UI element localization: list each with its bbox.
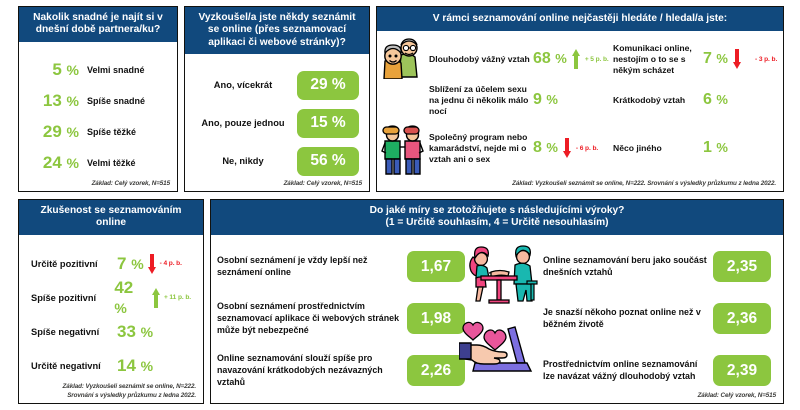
panel5-right-label-1: Je snazší někoho poznat online než v běž… (543, 307, 713, 331)
panel2-value-pill-2: 56 % (297, 147, 359, 176)
panel5-title-line1: Do jaké míry se ztotožňujete s následují… (217, 205, 777, 217)
panel3-value-right-1: 6 % (703, 91, 755, 109)
panel4-label-3: Určitě negativní (31, 361, 117, 371)
panel4-value-0: 7 % - 4 p. b. (117, 254, 182, 274)
panel1-value-3: 24 % (25, 153, 87, 173)
panel3-title: V rámci seznamování online nejčastěji hl… (377, 7, 783, 31)
couple-at-table-svg (467, 243, 541, 307)
panel5-left-label-0: Osobní seznámení je vždy lepší než sezná… (217, 255, 407, 279)
list-item: 29 % Spíše těžké (25, 117, 171, 148)
panel1-label-3: Velmi těžké (87, 158, 136, 168)
panel3-body: Dlouhodobý vážný vztah 68 % + 5 p. b. Ko… (377, 31, 783, 191)
panel2-value-pill-0: 29 % (297, 71, 359, 100)
panel-experience-online-dating: Zkušenost se seznamováním online Určitě … (18, 199, 204, 404)
list-item: Spíše negativní 33 % (31, 315, 191, 349)
panel5-left-value-1: 1,98 (407, 303, 465, 334)
couple-at-table-icon (467, 243, 541, 312)
list-item: Osobní seznámení je vždy lepší než sezná… (217, 241, 465, 293)
panel-agreement-statements: Do jaké míry se ztotožňujete s následují… (210, 199, 784, 404)
two-friends-icon (381, 119, 429, 177)
infographic-page: Nakolik snadné je najít si v dnešní době… (0, 0, 800, 410)
list-item: Určitě negativní 14 % (31, 349, 191, 383)
list-item: Prostřednictvím online seznamování lze n… (543, 345, 771, 397)
panel4-title: Zkušenost se seznamováním online (19, 200, 203, 235)
panel5-left-label-2: Online seznamování slouží spíše pro nava… (217, 353, 407, 388)
panel1-title: Nakolik snadné je najít si v dnešní době… (19, 7, 177, 42)
panel5-title-line2: (1 = Určitě souhlasím, 4 = Určitě nesouh… (217, 217, 777, 229)
panel4-value-2: 33 % (117, 322, 153, 342)
panel2-value-pill-1: 15 % (297, 109, 359, 138)
panel1-label-1: Spíše snadné (87, 96, 145, 106)
list-item: Ano, vícekrát 29 % (195, 66, 359, 104)
panel3-delta-left-0: + 5 p. b. (585, 56, 609, 63)
trend-down-arrow-icon (563, 138, 571, 158)
panel3-value-left-0: 68 % + 5 p. b. (533, 49, 611, 69)
trend-down-arrow-icon (733, 49, 741, 69)
panel3-label-right-0: Komunikaci online, nestojím o to se s ně… (611, 43, 703, 77)
list-item: 5 % Velmi snadné (25, 55, 171, 86)
panel4-delta-1: + 11 p. b. (164, 294, 191, 301)
panel1-rows: 5 % Velmi snadné 13 % Spíše snadné 29 % … (25, 46, 171, 179)
panel3-label-left-1: Sblížení za účelem sexu na jednu či něko… (429, 84, 533, 118)
list-item: Ano, pouze jednou 15 % (195, 104, 359, 142)
panel4-label-2: Spíše negativní (31, 327, 117, 337)
panel1-footnote: Základ: Celý vzorek, N=515 (92, 180, 170, 189)
panel1-label-2: Spíše těžké (87, 127, 136, 137)
panel5-right-value-2: 2,39 (713, 355, 771, 386)
panel2-rows: Ano, vícekrát 29 % Ano, pouze jednou 15 … (191, 58, 363, 180)
panel3-value-right-2: 1 % (703, 139, 755, 157)
two-friends-svg (381, 119, 427, 175)
elderly-couple-icon (381, 37, 429, 81)
list-item: Online seznamování slouží spíše pro nava… (217, 345, 465, 397)
panel3-footnote: Základ: Vyzkoušeli seznámit se online, N… (512, 180, 776, 189)
panel1-label-0: Velmi snadné (87, 65, 145, 75)
panel5-left-value-0: 1,67 (407, 251, 465, 282)
list-item: Určitě pozitivní 7 % - 4 p. b. (31, 247, 191, 281)
panel4-footnote-line2: Srovnání s výsledky průzkumu z ledna 202… (63, 392, 196, 401)
panel4-value-3: 14 % (117, 356, 153, 376)
list-item: Je snazší někoho poznat online než v běž… (543, 293, 771, 345)
list-item: Spíše pozitivní 42 % + 11 p. b. (31, 281, 191, 315)
panel3-label-left-0: Dlouhodobý vážný vztah (429, 54, 533, 65)
panel-ease-of-finding-partner: Nakolik snadné je najít si v dnešní době… (18, 6, 178, 192)
trend-up-arrow-icon (572, 49, 580, 69)
panel5-right-column: Online seznamování beru jako součást dne… (543, 241, 771, 403)
panel2-footnote: Základ: Celý vzorek, N=515 (284, 180, 362, 189)
panel5-title: Do jaké míry se ztotožňujete s následují… (211, 200, 783, 235)
panel3-delta-left-2: - 6 p. b. (576, 145, 598, 152)
panel5-left-label-1: Osobní seznámení prostřednictvím seznamo… (217, 301, 407, 336)
panel5-right-value-0: 2,35 (713, 251, 771, 282)
panel5-footnote: Základ: Celý vzorek, N=515 (698, 392, 776, 401)
panel1-body: 5 % Velmi snadné 13 % Spíše snadné 29 % … (19, 42, 177, 191)
panel4-rows: Určitě pozitivní 7 % - 4 p. b. Spíše poz… (25, 239, 197, 383)
panel4-body: Určitě pozitivní 7 % - 4 p. b. Spíše poz… (19, 235, 203, 403)
panel3-value-left-2: 8 % - 6 p. b. (533, 138, 611, 158)
panel4-delta-0: - 4 p. b. (160, 260, 182, 267)
panel5-illustration-column (465, 241, 543, 403)
hand-laptop-hearts-svg (459, 315, 545, 377)
panel1-value-2: 29 % (25, 122, 87, 142)
panel3-delta-right-0: - 3 p. b. (755, 56, 785, 63)
panel4-footnote: Základ: Vyzkoušeli seznámit se online, N… (63, 383, 196, 400)
panel4-label-1: Spíše pozitivní (31, 293, 114, 303)
panel3-value-right-0: 7 % (703, 49, 755, 69)
panel2-body: Ano, vícekrát 29 % Ano, pouze jednou 15 … (185, 54, 369, 191)
list-item: 13 % Spíše snadné (25, 86, 171, 117)
panel5-body: Osobní seznámení je vždy lepší než sezná… (211, 235, 783, 403)
panel1-value-0: 5 % (25, 60, 87, 80)
panel5-right-label-0: Online seznamování beru jako součást dne… (543, 255, 713, 279)
panel5-columns: Osobní seznámení je vždy lepší než sezná… (211, 235, 783, 403)
list-item: Online seznamování beru jako součást dne… (543, 241, 771, 293)
panel5-left-value-2: 2,26 (407, 355, 465, 386)
panel2-label-1: Ano, pouze jednou (195, 118, 291, 130)
trend-down-arrow-icon (148, 254, 156, 274)
panel5-left-column: Osobní seznámení je vždy lepší než sezná… (217, 241, 465, 403)
panel3-value-left-1: 9 % (533, 91, 611, 109)
list-item: 24 % Velmi těžké (25, 148, 171, 179)
panel3-label-right-2: Něco jiného (611, 143, 703, 154)
panel5-right-label-2: Prostřednictvím online seznamování lze n… (543, 359, 713, 383)
panel5-right-value-1: 2,36 (713, 303, 771, 334)
panel3-label-right-1: Krátkodobý vztah (611, 95, 703, 106)
panel3-label-left-2: Společný program nebo kamarádství, nejde… (429, 132, 533, 166)
trend-up-arrow-icon (152, 288, 160, 308)
panel1-value-1: 13 % (25, 91, 87, 111)
panel4-value-1: 42 % + 11 p. b. (114, 278, 191, 318)
hand-on-laptop-with-hearts-icon (459, 315, 545, 382)
panel3-grid: Dlouhodobý vážný vztah 68 % + 5 p. b. Ko… (377, 31, 783, 177)
panel4-footnote-line1: Základ: Vyzkoušeli seznámit se online, N… (63, 383, 196, 392)
panel2-label-0: Ano, vícekrát (195, 80, 291, 92)
panel-tried-online-dating: Vyzkoušel/a jste někdy seznámit se onlin… (184, 6, 370, 192)
panel4-label-0: Určitě pozitivní (31, 259, 117, 269)
list-item: Osobní seznámení prostřednictvím seznamo… (217, 293, 465, 345)
elderly-couple-svg (381, 37, 427, 79)
panel3-icon-slot-empty (381, 81, 429, 119)
panel2-title: Vyzkoušel/a jste někdy seznámit se onlin… (185, 7, 369, 54)
list-item: Ne, nikdy 56 % (195, 142, 359, 180)
panel2-label-2: Ne, nikdy (195, 156, 291, 168)
panel-what-seeking-online: V rámci seznamování online nejčastěji hl… (376, 6, 784, 192)
